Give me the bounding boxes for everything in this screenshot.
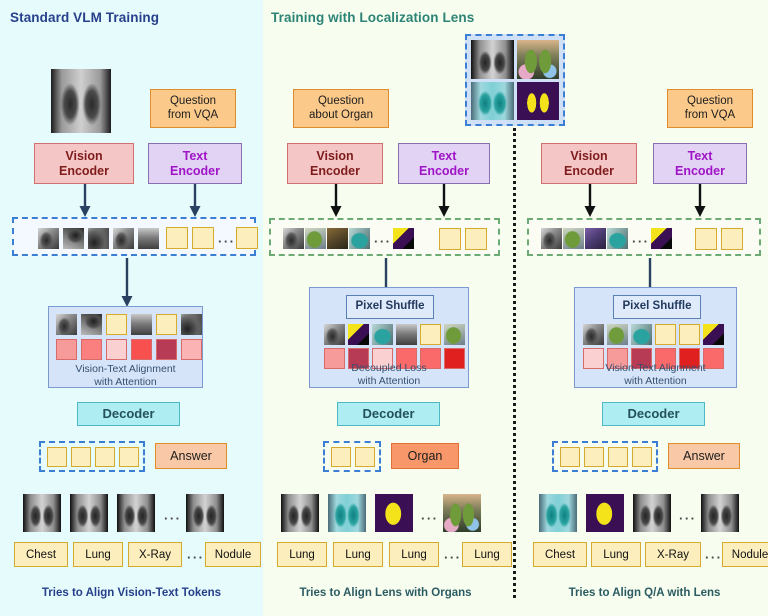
text-encoder-box: Text Encoder	[653, 143, 747, 184]
arrow-text-to-tokens	[437, 184, 451, 218]
output-token	[584, 447, 604, 467]
middle-subpanel-caption: Tries to Align Lens with Organs	[263, 587, 508, 599]
image-token	[583, 324, 604, 345]
vision-encoder-line-2: Encoder	[310, 164, 360, 178]
gallery-image	[701, 494, 739, 532]
image-token	[56, 314, 77, 335]
text-token	[465, 228, 487, 250]
gallery-image	[281, 494, 319, 532]
gallery-label-chip: Lung	[462, 542, 512, 567]
gallery-label-chip: Lung	[277, 542, 327, 567]
answer-box: Answer	[155, 443, 227, 469]
decoder-box: Decoder	[77, 402, 180, 426]
question-line-2: from VQA	[168, 109, 218, 122]
image-token	[138, 228, 159, 249]
subpanel-qa-lens-flow: Question from VQA Vision Encoder Text En…	[521, 0, 768, 616]
image-token	[324, 324, 345, 345]
text-encoder-line-2: Encoder	[170, 164, 220, 178]
output-token	[632, 447, 652, 467]
image-token	[181, 314, 202, 335]
gallery-ellipsis: ···	[164, 512, 182, 525]
vision-encoder-line-2: Encoder	[59, 164, 109, 178]
arrow-text-to-tokens	[188, 184, 202, 218]
image-token	[113, 228, 134, 249]
text-token	[655, 324, 676, 345]
image-token	[81, 314, 102, 335]
output-token	[355, 447, 375, 467]
image-token	[327, 228, 348, 249]
arrow-text-to-tokens	[693, 184, 707, 218]
answer-box: Answer	[668, 443, 740, 469]
gallery-image	[70, 494, 108, 532]
text-token	[721, 228, 743, 250]
panel-training-with-localization-lens: Training with Localization Lens Question…	[263, 0, 768, 616]
arrow-vision-to-tokens	[329, 184, 343, 218]
decoder-box: Decoder	[602, 402, 705, 426]
image-token	[283, 228, 304, 249]
question-about-organ-box: Question about Organ	[293, 89, 389, 128]
token-ellipsis: ···	[632, 235, 650, 248]
pixel-shuffle-box: Pixel Shuffle	[346, 295, 434, 319]
attention-cell	[131, 339, 152, 360]
output-token	[608, 447, 628, 467]
alignment-caption-line-2: with Attention	[575, 375, 736, 388]
vision-encoder-line-1: Vision	[316, 149, 353, 163]
organ-output-box: Organ	[391, 443, 459, 469]
gallery-label-chip: Nodule	[205, 542, 261, 567]
image-token	[305, 228, 326, 249]
image-token	[541, 228, 562, 249]
gallery-label-ellipsis: ···	[187, 551, 205, 564]
image-token	[348, 324, 369, 345]
token-ellipsis: ···	[218, 235, 236, 248]
text-encoder-line-1: Text	[432, 149, 457, 163]
decoupled-loss-block: Pixel Shuffle Decoupled Loss with Attent…	[309, 287, 469, 388]
text-token	[420, 324, 441, 345]
image-token	[607, 228, 628, 249]
text-encoder-box: Text Encoder	[148, 143, 242, 184]
alignment-caption-line-2: with Attention	[49, 376, 202, 389]
output-token	[95, 447, 115, 467]
gallery-image	[375, 494, 413, 532]
alignment-caption-line-1: Decoupled Loss	[310, 362, 468, 375]
output-token	[47, 447, 67, 467]
text-encoder-line-2: Encoder	[419, 164, 469, 178]
image-token	[396, 324, 417, 345]
gallery-image	[633, 494, 671, 532]
text-encoder-box: Text Encoder	[398, 143, 490, 184]
arrow-vision-to-tokens	[583, 184, 597, 218]
vision-encoder-line-1: Vision	[65, 149, 102, 163]
question-line-1: Question	[687, 95, 733, 108]
text-token	[695, 228, 717, 250]
text-token	[156, 314, 177, 335]
gallery-label-chip: Nodule	[722, 542, 768, 567]
text-token	[236, 227, 258, 249]
image-token	[349, 228, 370, 249]
decoder-box: Decoder	[337, 402, 440, 426]
vision-encoder-box: Vision Encoder	[287, 143, 383, 184]
text-encoder-line-2: Encoder	[675, 164, 725, 178]
token-strip-middle: ···	[269, 218, 500, 256]
token-strip-left: ···	[12, 217, 256, 256]
gallery-image	[586, 494, 624, 532]
question-from-vqa-box: Question from VQA	[150, 89, 236, 128]
image-token	[38, 228, 59, 249]
image-token	[631, 324, 652, 345]
attention-cell	[81, 339, 102, 360]
token-strip-end: ···	[527, 218, 761, 256]
attention-cell	[56, 339, 77, 360]
arrow-tokens-to-alignment	[120, 258, 134, 308]
gallery-label-ellipsis: ···	[705, 551, 723, 564]
output-token	[71, 447, 91, 467]
text-token	[439, 228, 461, 250]
gallery-label-chip: Lung	[73, 542, 123, 567]
gallery-label-chip: X-Ray	[645, 542, 701, 567]
image-token	[585, 228, 606, 249]
subpanel-lens-organ-flow: Question about Organ Vision Encoder Text…	[263, 0, 508, 616]
image-token	[607, 324, 628, 345]
text-encoder-line-1: Text	[183, 149, 208, 163]
image-token	[444, 324, 465, 345]
gallery-image	[186, 494, 224, 532]
question-line-1: Question	[318, 95, 364, 108]
pixel-shuffle-box: Pixel Shuffle	[613, 295, 701, 319]
text-token	[192, 227, 214, 249]
end-subpanel-caption: Tries to Align Q/A with Lens	[521, 587, 768, 599]
chest-xray-image	[51, 69, 111, 133]
output-token	[560, 447, 580, 467]
text-token	[106, 314, 127, 335]
image-token	[703, 324, 724, 345]
figure-root: Standard VLM Training Question from VQA …	[0, 0, 768, 616]
output-token-strip	[323, 441, 381, 472]
attention-cell	[106, 339, 127, 360]
alignment-caption-line-1: Vision-Text Alignment	[575, 362, 736, 375]
gallery-label-chip: Lung	[591, 542, 641, 567]
output-token-strip	[39, 441, 145, 472]
vision-encoder-box: Vision Encoder	[541, 143, 637, 184]
alignment-caption-line-1: Vision-Text Alignment	[49, 363, 202, 376]
alignment-caption-line-2: with Attention	[310, 375, 468, 388]
gallery-image	[328, 494, 366, 532]
vision-text-alignment-block: Pixel Shuffle Vision-Text Alignment with…	[574, 287, 737, 388]
question-line-2: about Organ	[309, 109, 373, 122]
attention-cell	[181, 339, 202, 360]
gallery-image	[443, 494, 481, 532]
attention-cell	[156, 339, 177, 360]
image-token	[131, 314, 152, 335]
image-token	[372, 324, 393, 345]
gallery-label-chip: Lung	[333, 542, 383, 567]
gallery-label-chip: Chest	[14, 542, 68, 567]
text-encoder-line-1: Text	[688, 149, 713, 163]
vision-encoder-box: Vision Encoder	[34, 143, 134, 184]
image-token	[651, 228, 672, 249]
gallery-label-chip: X-Ray	[128, 542, 182, 567]
vision-text-alignment-block: Vision-Text Alignment with Attention	[48, 306, 203, 388]
gallery-ellipsis: ···	[421, 512, 439, 525]
panel-standard-vlm-training: Standard VLM Training Question from VQA …	[0, 0, 263, 616]
image-token	[63, 228, 84, 249]
gallery-label-chip: Lung	[389, 542, 439, 567]
gallery-ellipsis: ···	[679, 512, 697, 525]
gallery-image	[117, 494, 155, 532]
image-token	[88, 228, 109, 249]
arrow-vision-to-tokens	[78, 184, 92, 218]
output-token-strip	[552, 441, 658, 472]
question-line-1: Question	[170, 95, 216, 108]
output-token	[331, 447, 351, 467]
vision-encoder-line-2: Encoder	[564, 164, 614, 178]
gallery-label-ellipsis: ···	[444, 551, 462, 564]
left-panel-title: Standard VLM Training	[10, 10, 159, 25]
question-line-2: from VQA	[685, 109, 735, 122]
gallery-label-chip: Chest	[533, 542, 587, 567]
text-token	[679, 324, 700, 345]
gallery-image	[23, 494, 61, 532]
output-token	[119, 447, 139, 467]
image-token	[393, 228, 414, 249]
text-token	[166, 227, 188, 249]
panel-divider	[513, 128, 516, 598]
left-panel-caption: Tries to Align Vision-Text Tokens	[0, 587, 263, 599]
vision-encoder-line-1: Vision	[570, 149, 607, 163]
question-from-vqa-box: Question from VQA	[667, 89, 753, 128]
token-ellipsis: ···	[374, 235, 392, 248]
image-token	[563, 228, 584, 249]
gallery-image	[539, 494, 577, 532]
